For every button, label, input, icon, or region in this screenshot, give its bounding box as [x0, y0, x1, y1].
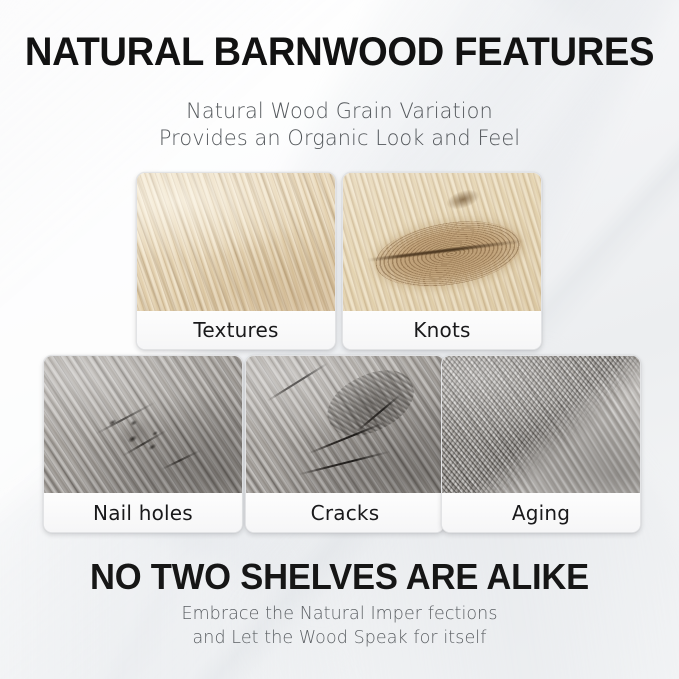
- subheadline: Natural Wood Grain Variation Provides an…: [10, 98, 669, 152]
- card-caption: Aging: [442, 493, 640, 532]
- card-label-textures: Textures: [193, 318, 278, 342]
- headline: NATURAL BARNWOOD FEATURES: [15, 30, 663, 74]
- card-caption: Knots: [343, 311, 541, 349]
- feature-card-nail-holes: Nail holes: [43, 355, 243, 533]
- card-caption: Cracks: [246, 493, 444, 532]
- card-caption: Textures: [137, 311, 335, 349]
- nail-hole-cluster: [90, 379, 195, 482]
- subheadline-line-1: Natural Wood Grain Variation: [10, 98, 669, 125]
- aged-rough-region: [442, 356, 640, 495]
- product-feature-poster: NATURAL BARNWOOD FEATURES Natural Wood G…: [0, 0, 679, 679]
- crack-line: [308, 421, 386, 454]
- knot-small-fleck: [444, 186, 482, 213]
- aged-smooth-region: [442, 356, 640, 495]
- subheadline-line-2: Provides an Organic Look and Feel: [10, 125, 669, 152]
- crack-line: [267, 362, 328, 401]
- surface-scratch: [161, 449, 201, 470]
- feature-card-aging: Aging: [441, 355, 641, 533]
- feature-card-cracks: Cracks: [245, 355, 445, 533]
- card-label-knots: Knots: [413, 318, 470, 342]
- knot-ring-detail: [371, 212, 525, 296]
- wood-texture-image: [137, 173, 335, 313]
- crack-blotch-detail: [318, 358, 424, 448]
- poster-content: NATURAL BARNWOOD FEATURES Natural Wood G…: [0, 0, 679, 679]
- closing-subtext-line-2: and Let the Wood Speak for itself: [10, 626, 669, 650]
- wood-swatch-textures: [137, 173, 335, 313]
- closing-subtext: Embrace the Natural Imper fections and L…: [10, 602, 669, 650]
- feature-card-textures: Textures: [136, 172, 336, 350]
- surface-scratch: [95, 401, 155, 434]
- wood-texture-image: [44, 356, 242, 495]
- wood-swatch-cracks: [246, 356, 444, 495]
- card-caption: Nail holes: [44, 493, 242, 532]
- wood-texture-image: [246, 356, 444, 495]
- crack-line: [299, 450, 392, 475]
- wood-texture-image: [442, 356, 640, 495]
- wood-swatch-knots: [343, 173, 541, 313]
- wood-swatch-nail-holes: [44, 356, 242, 495]
- card-label-cracks: Cracks: [311, 501, 380, 525]
- card-label-nail-holes: Nail holes: [93, 501, 193, 525]
- card-label-aging: Aging: [512, 501, 570, 525]
- closing-headline: NO TWO SHELVES ARE ALIKE: [14, 557, 666, 597]
- surface-scratch: [122, 429, 167, 456]
- crack-line: [355, 393, 402, 433]
- wood-swatch-aging: [442, 356, 640, 495]
- feature-card-knots: Knots: [342, 172, 542, 350]
- closing-subtext-line-1: Embrace the Natural Imper fections: [10, 602, 669, 626]
- wood-texture-image: [343, 173, 541, 313]
